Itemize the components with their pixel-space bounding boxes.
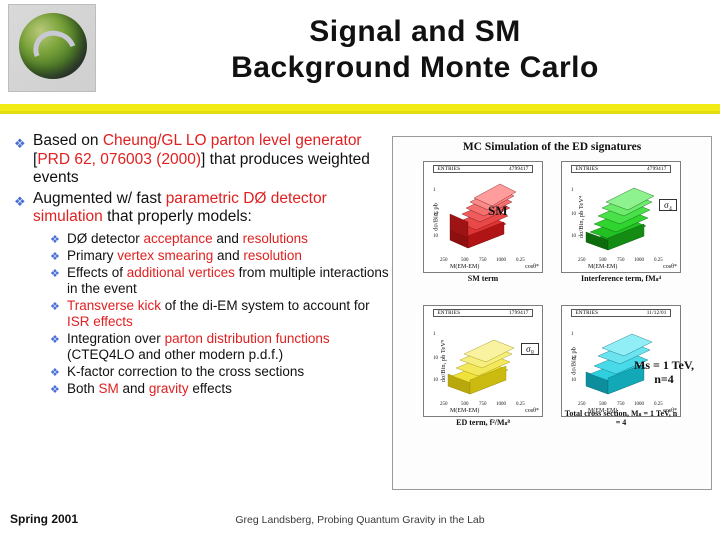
page-title: Signal and SM Background Monte Carlo: [120, 14, 710, 86]
sub-bullet-text: K-factor correction to the cross section…: [67, 364, 304, 380]
plot-caption: Interference term, fMₛ⁴: [562, 274, 680, 283]
text-run: acceptance: [144, 231, 213, 246]
x-tick: 1000: [496, 258, 506, 263]
x-tick: 750: [617, 258, 625, 263]
plot-caption: Total cross section, Mₛ = 1 TeV, n = 4: [562, 409, 680, 427]
text-run: resolution: [243, 248, 302, 263]
sub-bullet-item: ❖Primary vertex smearing and resolution: [50, 248, 390, 264]
y-tick: 1: [433, 332, 436, 337]
text-run: of the di-EM system to account for: [161, 298, 370, 313]
y-tick: 10: [571, 378, 576, 383]
bullet-item: ❖ Based on Cheung/GL LO parton level gen…: [14, 132, 390, 188]
text-run: vertex smearing: [117, 248, 213, 263]
x-tick: 0.25: [654, 402, 663, 407]
sub-bullet-item: ❖DØ detector acceptance and resolutions: [50, 231, 390, 247]
x-tick: 250: [578, 258, 586, 263]
text-run: K-factor correction to the cross section…: [67, 364, 304, 379]
stat-value: 4799417: [647, 166, 667, 172]
sub-bullet-marker-icon: ❖: [50, 269, 62, 280]
page-title-line1: Signal and SM: [120, 14, 710, 50]
sub-bullet-list: ❖DØ detector acceptance and resolutions❖…: [50, 231, 390, 397]
x-tick: 0.25: [516, 402, 525, 407]
surface-plot-sm: [440, 178, 540, 260]
x-tick: 0.25: [516, 258, 525, 263]
sub-bullet-text: Transverse kick of the di-EM system to a…: [67, 298, 390, 330]
bullet-list: ❖ Based on Cheung/GL LO parton level gen…: [14, 132, 390, 398]
x-axis-label: M(EM-EM): [450, 264, 479, 270]
sub-bullet-text: Both SM and gravity effects: [67, 381, 232, 397]
x-axis-label: cosθ*: [525, 408, 539, 414]
y-tick: 10: [571, 234, 576, 239]
stat-label: ENTRIES: [575, 166, 598, 172]
header-divider-shadow: [0, 111, 720, 114]
plot-stat-box: ENTRIES 4799417: [433, 165, 532, 173]
surface-plot-ed: [440, 322, 540, 404]
text-run: additional vertices: [127, 265, 235, 280]
x-axis-label: cosθ*: [525, 264, 539, 270]
y-tick: 1: [433, 188, 436, 193]
x-tick: 1000: [496, 402, 506, 407]
text-run: and: [119, 381, 149, 396]
stat-value: 11/12/01: [647, 310, 667, 316]
figure-title: MC Simulation of the ED signatures: [393, 141, 711, 153]
sub-bullet-text: Primary vertex smearing and resolution: [67, 248, 302, 264]
surface-plot-interference: [578, 178, 678, 260]
text-run: Transverse kick: [67, 298, 161, 313]
x-tick: 500: [461, 258, 469, 263]
x-tick: 750: [617, 402, 625, 407]
sub-bullet-marker-icon: ❖: [50, 385, 62, 396]
stat-label: ENTRIES: [437, 310, 460, 316]
plot-stat-box: ENTRIES 4799417: [571, 165, 670, 173]
text-run: Based on: [33, 132, 103, 149]
x-tick: 500: [599, 402, 607, 407]
y-tick: 1: [571, 188, 574, 193]
x-tick: 250: [440, 258, 448, 263]
x-tick: 750: [479, 258, 487, 263]
text-run: DØ detector: [67, 231, 144, 246]
stat-value: 4799417: [509, 166, 529, 172]
text-run: ISR effects: [67, 314, 133, 329]
x-tick: 1000: [634, 402, 644, 407]
x-tick: 1000: [634, 258, 644, 263]
sub-bullet-marker-icon: ❖: [50, 368, 62, 379]
sub-bullet-item: ❖K-factor correction to the cross sectio…: [50, 364, 390, 380]
text-run: and: [213, 248, 243, 263]
ms-note-line1: Ms = 1 TeV,: [614, 358, 714, 372]
sub-bullet-item: ❖Transverse kick of the di-EM system to …: [50, 298, 390, 330]
x-tick: 250: [440, 402, 448, 407]
y-tick: 10: [433, 378, 438, 383]
plot-caption: ED term, f²/Mₛ⁸: [424, 418, 542, 427]
figure-panel: MC Simulation of the ED signatures ENTRI…: [392, 136, 712, 490]
sub-bullet-marker-icon: ❖: [50, 302, 62, 313]
y-tick: 10: [571, 212, 576, 217]
plot-stat-box: ENTRIES 11/12/01: [571, 309, 670, 317]
x-tick: 500: [461, 402, 469, 407]
text-run: SM: [99, 381, 119, 396]
sub-bullet-marker-icon: ❖: [50, 335, 62, 346]
x-tick: 500: [599, 258, 607, 263]
plot-y-axis-label: dσ/Bin, pb: [570, 347, 577, 375]
text-run: PRD 62, 076003 (2000): [37, 151, 201, 168]
plot-ed-term: ENTRIES 1799417 dσ/Bin, pb TeV⁸ 1 10 10 …: [423, 305, 543, 417]
sub-bullet-item: ❖Effects of additional vertices from mul…: [50, 265, 390, 297]
x-tick: 750: [479, 402, 487, 407]
stat-value: 1799417: [509, 310, 529, 316]
plot-y-axis-label: dσ/Bin, pb: [432, 203, 439, 231]
text-run: effects: [189, 381, 232, 396]
x-tick: 250: [578, 402, 586, 407]
stat-label: ENTRIES: [575, 310, 598, 316]
annotation-ms-note: Ms = 1 TeV, n=4: [614, 358, 714, 386]
text-run: that properly models:: [103, 208, 252, 225]
y-tick: 10: [433, 234, 438, 239]
sub-bullet-marker-icon: ❖: [50, 235, 62, 246]
text-run: Integration over: [67, 331, 165, 346]
text-run: Effects of: [67, 265, 127, 280]
plot-stat-box: ENTRIES 1799417: [433, 309, 532, 317]
text-run: (CTEQ4LO and other modern p.d.f.): [67, 347, 283, 362]
y-tick: 10: [571, 356, 576, 361]
text-run: gravity: [149, 381, 189, 396]
plot-interference-term: ENTRIES 4799417 dσ/Bin, pb TeV⁴ 1 10 10 …: [561, 161, 681, 273]
text-run: parton distribution functions: [165, 331, 330, 346]
sub-bullet-text: Integration over parton distribution fun…: [67, 331, 390, 363]
plot-caption: SM term: [424, 274, 542, 283]
bullet-text: Augmented w/ fast parametric DØ detector…: [33, 190, 390, 227]
annotation-sigma8: σ₈: [521, 343, 539, 355]
text-run: Cheung/GL LO parton level generator: [103, 132, 362, 149]
sub-bullet-text: DØ detector acceptance and resolutions: [67, 231, 308, 247]
sub-bullet-item: ❖Both SM and gravity effects: [50, 381, 390, 397]
y-tick: 10: [433, 212, 438, 217]
bullet-marker-icon: ❖: [14, 195, 28, 208]
text-run: Both: [67, 381, 99, 396]
x-tick: 0.25: [654, 258, 663, 263]
sub-bullet-text: Effects of additional vertices from mult…: [67, 265, 390, 297]
header-divider: [0, 104, 720, 111]
sub-bullet-marker-icon: ❖: [50, 252, 62, 263]
bullet-text: Based on Cheung/GL LO parton level gener…: [33, 132, 390, 188]
x-axis-label: M(EM-EM): [450, 408, 479, 414]
annotation-sigma4: σ₄: [659, 199, 677, 211]
bullet-marker-icon: ❖: [14, 137, 28, 150]
footer-attribution: Greg Landsberg, Probing Quantum Gravity …: [0, 514, 720, 526]
stat-label: ENTRIES: [437, 166, 460, 172]
page-title-line2: Background Monte Carlo: [120, 50, 710, 86]
y-tick: 1: [571, 332, 574, 337]
text-run: Primary: [67, 248, 117, 263]
x-axis-label: cosθ*: [663, 264, 677, 270]
annotation-sm: SM: [488, 203, 508, 219]
text-run: Augmented w/ fast: [33, 190, 166, 207]
x-axis-label: M(EM-EM): [588, 264, 617, 270]
sub-bullet-item: ❖Integration over parton distribution fu…: [50, 331, 390, 363]
y-tick: 10: [433, 356, 438, 361]
plot-sm-term: ENTRIES 4799417 dσ/Bin, pb 1 10 10 250 5…: [423, 161, 543, 273]
text-run: and: [213, 231, 243, 246]
bullet-item: ❖ Augmented w/ fast parametric DØ detect…: [14, 190, 390, 227]
ms-note-line2: n=4: [614, 372, 714, 386]
brown-logo: [8, 4, 96, 92]
text-run: resolutions: [243, 231, 308, 246]
